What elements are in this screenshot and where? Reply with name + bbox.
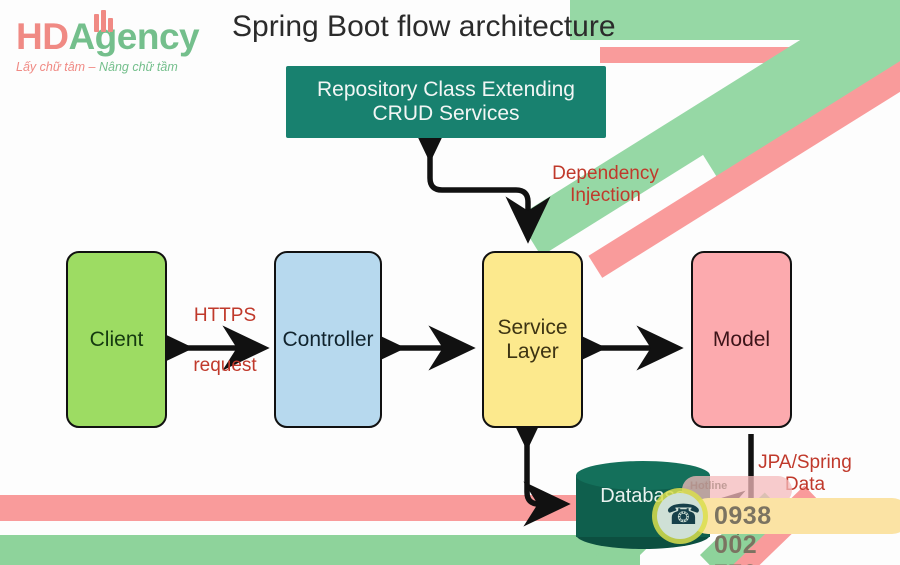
phone-call-icon[interactable]: ☎ [666,501,701,529]
hotline-number[interactable]: 0938 002 776 [714,502,772,565]
node-model[interactable]: Model [691,251,792,428]
slide-canvas: HDAgency Lấy chữ tâm – Nâng chữ tầm Spri… [0,0,900,565]
node-service-layer[interactable]: Service Layer [482,251,583,428]
edge-label-request: request [177,355,273,377]
edge-label-https: HTTPS [180,305,270,327]
hotline-caption: Hotline [690,480,727,492]
edge-label-dependency-injection: Dependency Injection [533,163,678,207]
node-client[interactable]: Client [66,251,167,428]
node-controller[interactable]: Controller [274,251,382,428]
node-repository[interactable]: Repository Class Extending CRUD Services [286,66,606,138]
